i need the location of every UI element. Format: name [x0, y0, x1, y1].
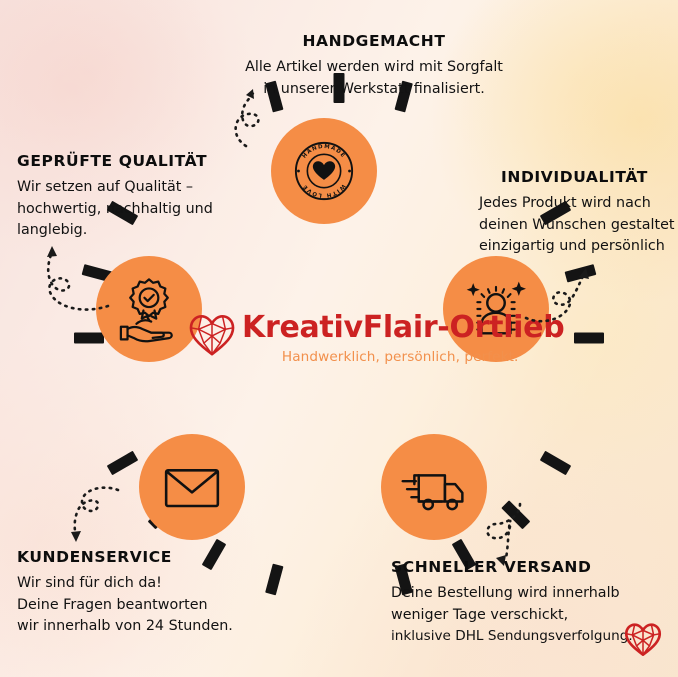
svg-text:WITH LOVE: WITH LOVE	[302, 183, 346, 198]
infographic-canvas: HANDMADE WITH LOVE	[0, 0, 678, 677]
svg-text:HANDMADE: HANDMADE	[302, 144, 347, 160]
feature-line: deinen Wünschen gestaltet –	[479, 215, 678, 237]
feature-line: einzigartig und persönlich	[479, 236, 678, 258]
feature-icon-gepruefte-qualitaet[interactable]	[96, 256, 202, 362]
feature-line: Wir sind für dich da!	[17, 573, 277, 595]
ring-dash	[107, 451, 138, 476]
corner-brand-mark[interactable]	[624, 622, 662, 661]
delivery-truck-icon	[394, 447, 474, 527]
ring-dash	[540, 451, 571, 476]
feature-title: INDIVIDUALITÄT	[501, 168, 678, 186]
ring-dash	[565, 264, 597, 282]
feature-title: KUNDENSERVICE	[17, 548, 277, 566]
hand-holding-quality-badge-icon	[112, 272, 186, 346]
feature-line: Deine Fragen beantworten	[17, 595, 277, 617]
feature-line: Deine Bestellung wird innerhalb	[391, 583, 678, 605]
feature-icon-handgemacht[interactable]: HANDMADE WITH LOVE	[271, 118, 377, 224]
ring-dash	[74, 333, 104, 344]
feature-title: SCHNELLER VERSAND	[391, 558, 678, 576]
feature-title: GEPRÜFTE QUALITÄT	[17, 152, 267, 170]
feature-line: langlebig.	[17, 220, 267, 242]
brand-wordmark: KreativFlair-Ortlieb	[242, 313, 564, 343]
feature-line: Wir setzen auf Qualität –	[17, 177, 267, 199]
feature-line: hochwertig, nachhaltig und	[17, 199, 267, 221]
geometric-heart-icon	[188, 313, 236, 357]
envelope-icon	[154, 449, 230, 525]
feature-line: in unserer Werkstatt finalisiert.	[239, 79, 509, 101]
feature-line: Jedes Produkt wird nach	[479, 193, 678, 215]
feature-text-individualitaet: INDIVIDUALITÄT Jedes Produkt wird nach d…	[479, 168, 678, 258]
geometric-heart-icon	[624, 622, 662, 657]
feature-text-handgemacht: HANDGEMACHT Alle Artikel werden wird mit…	[239, 32, 509, 100]
feature-text-kundenservice: KUNDENSERVICE Wir sind für dich da! Dein…	[17, 548, 277, 638]
feature-icon-kundenservice[interactable]	[139, 434, 245, 540]
handmade-with-love-stamp-icon: HANDMADE WITH LOVE	[287, 134, 361, 208]
brand-tagline: Handwerklich, persönlich, perfekt.	[236, 349, 564, 365]
feature-text-gepruefte-qualitaet: GEPRÜFTE QUALITÄT Wir setzen auf Qualitä…	[17, 152, 267, 242]
feature-line: Alle Artikel werden wird mit Sorgfalt	[239, 57, 509, 79]
feature-icon-schneller-versand[interactable]	[381, 434, 487, 540]
ring-dash	[574, 333, 604, 344]
ring-dash	[501, 500, 530, 529]
brand-logo[interactable]: KreativFlair-Ortlieb Handwerklich, persö…	[188, 313, 564, 365]
feature-line: wir innerhalb von 24 Stunden.	[17, 616, 277, 638]
feature-title: HANDGEMACHT	[239, 32, 509, 50]
